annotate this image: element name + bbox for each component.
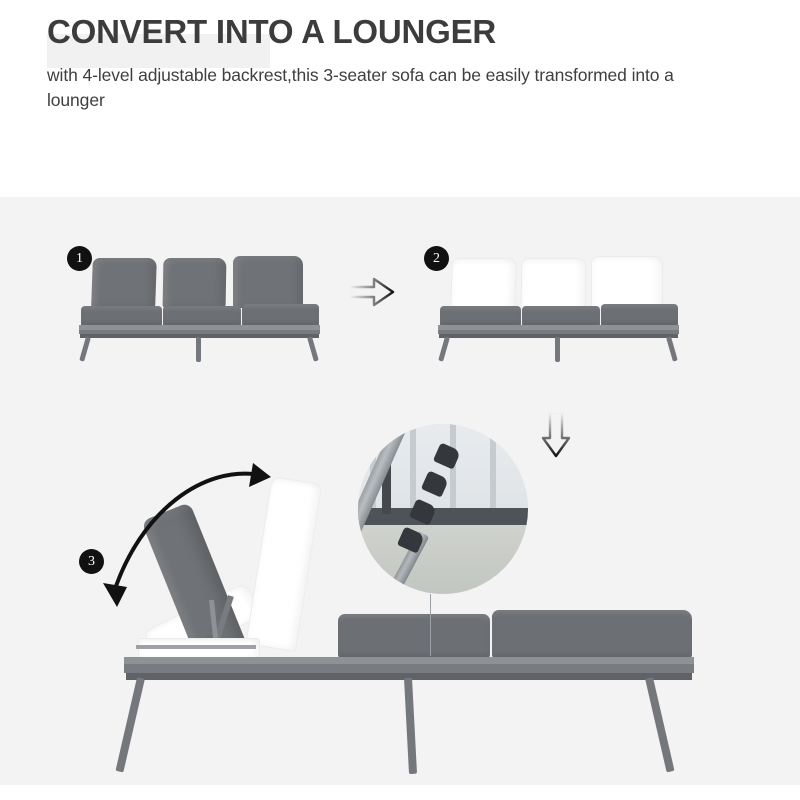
step-badge-2: 2 [424,246,449,271]
step-badge-3: 3 [79,549,104,574]
step3-leg-center [404,678,417,774]
curved-sweep-arrow-icon [85,455,315,685]
product-feature-graphic: CONVERT INTO A LOUNGER with 4-level adju… [0,0,800,800]
step3-lounger-cushion-mid [338,614,490,658]
step3-leg-left [116,677,145,772]
arrow-down-icon [538,410,574,460]
inset-railing-post [450,424,456,520]
inset-railing-post [490,424,496,520]
arrow-right-icon [348,274,396,310]
ratchet-mechanism-closeup-inset [358,424,528,594]
step-badge-1: 1 [67,246,92,271]
inset-ground-surface [358,525,528,594]
inset-callout-line [430,594,431,656]
step3-leg-right [645,677,674,772]
step3-lounger-cushion-end [492,610,692,658]
